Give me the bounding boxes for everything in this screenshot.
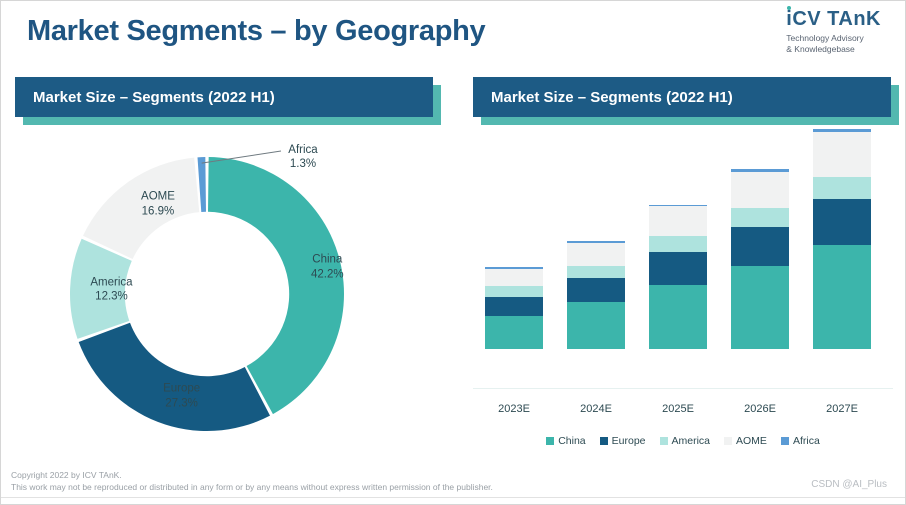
slide-canvas: Market Segments – by Geography iCV TAnK … xyxy=(0,0,906,505)
bar-column-2025e xyxy=(649,205,707,349)
donut-label-africa-name: Africa xyxy=(288,144,317,156)
donut-slice-africa xyxy=(197,157,206,212)
legend-label-europe: Europe xyxy=(612,435,646,447)
right-panel-header: Market Size – Segments (2022 H1) xyxy=(473,77,891,117)
bar-segment-aome xyxy=(813,132,871,177)
footer-line-1: Copyright 2022 by ICV TAnK. xyxy=(11,469,493,482)
donut-label-aome: AOME 16.9% xyxy=(141,190,175,219)
bar-segment-america xyxy=(485,286,543,296)
donut-label-africa-value: 1.3% xyxy=(288,157,317,171)
donut-label-china: China 42.2% xyxy=(311,253,344,282)
bar-column-2024e xyxy=(567,241,625,349)
legend-item-europe[interactable]: Europe xyxy=(600,435,646,447)
donut-label-china-name: China xyxy=(312,254,342,266)
stacked-bar-chart: 2023E2024E2025E2026E2027E ChinaEuropeAme… xyxy=(473,129,893,429)
legend-swatch-china xyxy=(546,437,554,445)
bar-column-2026e xyxy=(731,169,789,349)
bar-segment-china xyxy=(567,302,625,349)
donut-label-aome-name: AOME xyxy=(141,191,175,203)
legend-item-aome[interactable]: AOME xyxy=(724,435,767,447)
bar-column-2027e xyxy=(813,129,871,349)
donut-chart: China 42.2% Europe 27.3% America 12.3% A… xyxy=(15,129,445,459)
donut-label-europe-value: 27.3% xyxy=(163,396,200,410)
footer-copyright: Copyright 2022 by ICV TAnK. This work ma… xyxy=(11,469,493,495)
legend-item-america[interactable]: America xyxy=(660,435,711,447)
bar-segment-america xyxy=(731,208,789,227)
watermark: CSDN @AI_Plus xyxy=(811,479,887,490)
legend-item-africa[interactable]: Africa xyxy=(781,435,820,447)
donut-label-europe: Europe 27.3% xyxy=(163,382,200,411)
donut-label-america-value: 12.3% xyxy=(90,290,132,304)
legend-swatch-africa xyxy=(781,437,789,445)
footer-line-2: This work may not be reproduced or distr… xyxy=(11,481,493,494)
footer-divider xyxy=(1,497,905,498)
donut-label-europe-name: Europe xyxy=(163,383,200,395)
bar-segment-aome xyxy=(731,172,789,209)
page-title: Market Segments – by Geography xyxy=(27,15,485,48)
bar-segment-china xyxy=(813,245,871,349)
donut-label-aome-value: 16.9% xyxy=(141,204,175,218)
legend-label-china: China xyxy=(558,435,585,447)
bar-segment-america xyxy=(813,177,871,200)
bar-segment-aome xyxy=(567,243,625,266)
bar-segment-china xyxy=(649,285,707,349)
bar-segment-america xyxy=(567,266,625,278)
bar-segment-aome xyxy=(649,206,707,236)
legend-swatch-aome xyxy=(724,437,732,445)
logo-tagline: Technology Advisory & Knowledgebase xyxy=(786,33,881,56)
donut-label-america: America 12.3% xyxy=(90,275,132,304)
bar-x-label-2025e: 2025E xyxy=(649,403,707,415)
bar-segment-europe xyxy=(567,278,625,302)
bar-x-label-2026e: 2026E xyxy=(731,403,789,415)
bar-x-label-2027e: 2027E xyxy=(813,403,871,415)
bar-segment-europe xyxy=(731,227,789,265)
legend-swatch-america xyxy=(660,437,668,445)
africa-leader-line xyxy=(202,151,281,163)
logo-mark-text: iCV TAnK xyxy=(786,8,881,30)
legend-label-america: America xyxy=(672,435,711,447)
donut-label-america-name: America xyxy=(90,276,132,288)
bar-column-2023e xyxy=(485,267,543,349)
bar-segment-europe xyxy=(649,252,707,285)
bar-segment-aome xyxy=(485,269,543,286)
company-logo: iCV TAnK Technology Advisory & Knowledge… xyxy=(786,9,881,56)
left-panel-header: Market Size – Segments (2022 H1) xyxy=(15,77,433,117)
bar-segment-america xyxy=(649,236,707,252)
donut-slice-europe xyxy=(79,323,270,431)
bar-chart-legend: ChinaEuropeAmericaAOMEAfrica xyxy=(473,435,893,447)
legend-swatch-europe xyxy=(600,437,608,445)
donut-label-africa: Africa 1.3% xyxy=(288,143,317,172)
legend-item-china[interactable]: China xyxy=(546,435,585,447)
bar-segment-china xyxy=(485,316,543,349)
bar-x-label-2023e: 2023E xyxy=(485,403,543,415)
bar-segment-europe xyxy=(813,199,871,244)
logo-tagline-line-2: & Knowledgebase xyxy=(786,44,881,55)
donut-chart-svg xyxy=(15,129,445,459)
bar-plot-area xyxy=(473,129,893,389)
logo-tagline-line-1: Technology Advisory xyxy=(786,33,881,44)
logo-wordmark: iCV TAnK xyxy=(786,9,881,29)
legend-label-aome: AOME xyxy=(736,435,767,447)
bar-segment-china xyxy=(731,266,789,349)
donut-label-china-value: 42.2% xyxy=(311,267,344,281)
legend-label-africa: Africa xyxy=(793,435,820,447)
bar-x-label-2024e: 2024E xyxy=(567,403,625,415)
bar-segment-europe xyxy=(485,297,543,316)
